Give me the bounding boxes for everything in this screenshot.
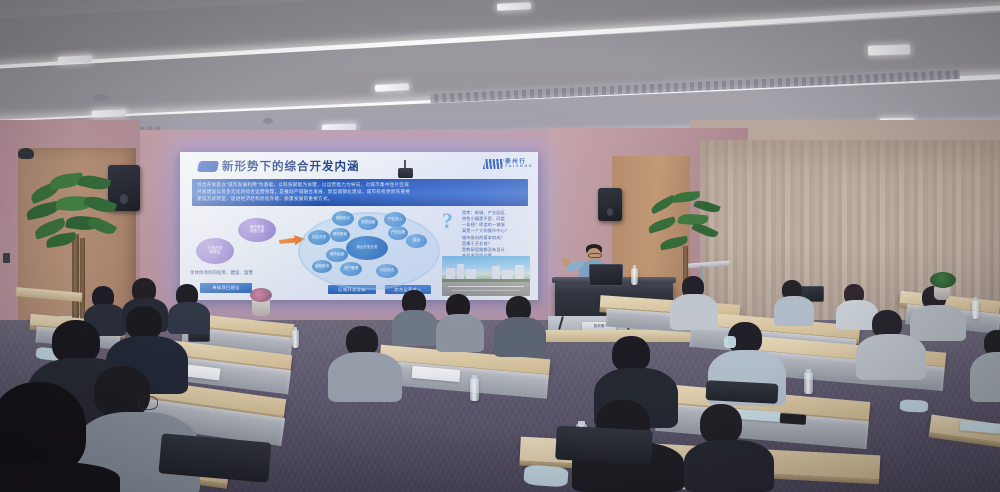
attendee-torso (856, 334, 926, 380)
face-mask[interactable] (523, 464, 568, 487)
water-bottle[interactable] (470, 378, 479, 401)
projection-screen: 新形势下的综合开发内涵 泰 州 行 T A I Z H O U 综合开发是以"城… (180, 152, 538, 300)
face-mask[interactable] (900, 399, 929, 412)
presenter-laptop[interactable] (589, 264, 623, 286)
attendee-torso (970, 352, 1000, 402)
attendee-torso (494, 317, 546, 357)
conference-room-photo: 新形势下的综合开发内涵 泰 州 行 T A I Z H O U 综合开发是以"城… (0, 0, 1000, 492)
wall-speaker (598, 188, 622, 221)
chair[interactable] (706, 380, 779, 404)
downlight (868, 44, 910, 55)
attendee-torso (670, 294, 718, 330)
attendee-torso (436, 314, 484, 352)
attendee-torso (0, 462, 120, 492)
downlight (92, 109, 126, 117)
flower-pot (934, 286, 950, 300)
water-bottle[interactable] (804, 372, 813, 394)
attendee-torso (774, 296, 814, 326)
flower-pot (252, 300, 270, 316)
attendee-glasses (138, 396, 158, 410)
phone[interactable] (780, 413, 807, 425)
smoke-detector (263, 118, 273, 124)
nameplate-label: 张天明 (594, 324, 605, 329)
attendee-head (0, 382, 86, 474)
attendee-torso (910, 305, 966, 341)
flower (930, 272, 956, 288)
attendee-head (126, 306, 162, 340)
ceiling-projector (398, 168, 413, 178)
presenter-glasses (588, 253, 602, 258)
flower (250, 288, 272, 302)
water-bottle[interactable] (631, 268, 638, 285)
chair[interactable] (555, 426, 653, 465)
wall-outlet[interactable] (3, 253, 10, 263)
attendee-torso (392, 310, 438, 346)
attendee-head (612, 336, 650, 372)
water-bottle[interactable] (292, 330, 299, 348)
attendee-torso (684, 440, 774, 492)
water-bottle[interactable] (972, 300, 979, 319)
attendee-head (94, 366, 150, 418)
face-mask-worn (724, 336, 736, 348)
ceiling-camera (18, 148, 34, 159)
attendee-head (700, 404, 742, 444)
attendee-torso (328, 352, 402, 402)
presenter-hand (562, 258, 570, 266)
attendee-torso (168, 302, 210, 334)
smoke-detector (93, 94, 108, 101)
